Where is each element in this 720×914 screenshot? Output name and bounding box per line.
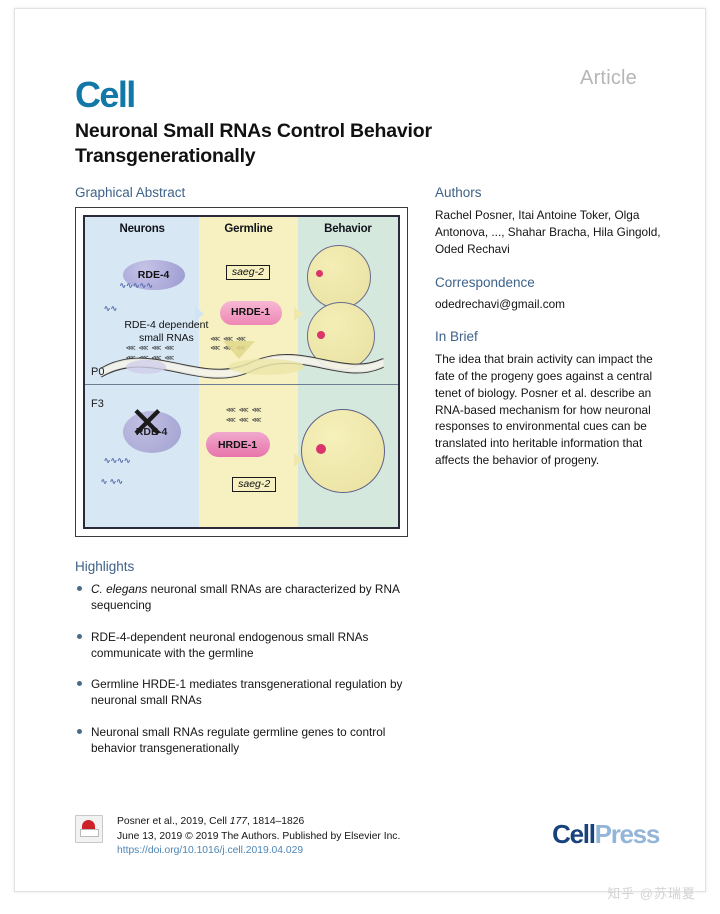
- footer: Posner et al., 2019, Cell 177, 1814–1826…: [75, 815, 475, 859]
- highlight-text: RDE-4-dependent neuronal endogenous smal…: [91, 630, 368, 660]
- crossmark-icon: [75, 815, 103, 843]
- knockout-x-mark: ✕: [129, 409, 166, 440]
- dsrna-fragment-p0: ∿∿: [104, 304, 117, 314]
- correspondence-heading: Correspondence: [435, 275, 663, 290]
- flow-arrow-neurons-to-germline: [195, 307, 204, 321]
- assay-plate-p0-a: [307, 245, 371, 309]
- crossmark-base: [80, 829, 99, 837]
- metadata-column: Authors Rachel Posner, Itai Antoine Toke…: [435, 185, 663, 487]
- in-brief-text: The idea that brain activity can impact …: [435, 351, 663, 468]
- cellpress-logo: CellPress: [552, 821, 659, 847]
- cellpress-logo-light: Press: [595, 819, 659, 849]
- correspondence-block: Correspondence odedrechavi@gmail.com: [435, 275, 663, 311]
- footer-doi-link[interactable]: https://doi.org/10.1016/j.cell.2019.04.0…: [117, 844, 400, 859]
- in-brief-block: In Brief The idea that brain activity ca…: [435, 329, 663, 468]
- list-item: RDE-4-dependent neuronal endogenous smal…: [75, 629, 425, 662]
- footer-publication-line: June 13, 2019 © 2019 The Authors. Publis…: [117, 830, 400, 845]
- highlights-section: Highlights C. elegans neuronal small RNA…: [75, 559, 425, 771]
- assay-plate-f3: [301, 409, 385, 493]
- food-spot: [316, 270, 323, 277]
- panel-title-neurons: Neurons: [85, 223, 199, 235]
- cellpress-logo-dark: Cell: [552, 819, 594, 849]
- page-sheet: Cell Article Neuronal Small RNAs Control…: [15, 9, 705, 891]
- in-brief-heading: In Brief: [435, 329, 663, 344]
- list-item: C. elegans neuronal small RNAs are chara…: [75, 581, 425, 614]
- highlights-heading: Highlights: [75, 559, 425, 574]
- graphical-abstract-section: Graphical Abstract Neurons Germline: [75, 185, 410, 537]
- authors-block: Authors Rachel Posner, Itai Antoine Toke…: [435, 185, 663, 257]
- highlight-italic-lead: C. elegans: [91, 582, 147, 596]
- correspondence-email[interactable]: odedrechavi@gmail.com: [435, 297, 663, 311]
- small-rna-cluster-germline-f3: ⋘ ⋘ ⋘⋘ ⋘ ⋘: [226, 406, 262, 425]
- article-type-label: Article: [580, 67, 637, 90]
- graphical-abstract-canvas: Neurons Germline Behavior RDE-4 ∿∿∿∿∿ ∿∿…: [83, 215, 400, 529]
- list-item: Germline HRDE-1 mediates transgeneration…: [75, 676, 425, 709]
- generation-divider: [85, 384, 398, 385]
- gene-saeg2-f3: saeg-2: [232, 477, 276, 492]
- citation-part-1: Posner et al., 2019, Cell: [117, 816, 230, 827]
- dsrna-fragments-f3: ∿ ∿∿: [101, 477, 123, 487]
- highlights-list: C. elegans neuronal small RNAs are chara…: [75, 581, 425, 756]
- food-spot: [317, 331, 325, 339]
- protein-hrde1-f3: HRDE-1: [206, 432, 270, 457]
- footer-citation: Posner et al., 2019, Cell 177, 1814–1826: [117, 815, 400, 830]
- protein-hrde1-p0: HRDE-1: [220, 301, 282, 325]
- panel-title-germline: Germline: [199, 223, 298, 235]
- gene-saeg2-p0: saeg-2: [226, 265, 270, 280]
- dsrna-strand-p0: ∿∿∿∿∿: [119, 281, 153, 291]
- generation-transfer-arrow: [223, 341, 255, 359]
- authors-heading: Authors: [435, 185, 663, 200]
- panel-title-behavior: Behavior: [298, 223, 398, 235]
- citation-volume: 177: [230, 816, 247, 827]
- page-title: Neuronal Small RNAs Control Behavior Tra…: [75, 119, 545, 169]
- food-spot: [316, 444, 326, 454]
- highlight-text: Germline HRDE-1 mediates transgeneration…: [91, 677, 402, 707]
- document-page: Cell Article Neuronal Small RNAs Control…: [14, 8, 706, 892]
- highlight-text: Neuronal small RNAs regulate germline ge…: [91, 725, 385, 755]
- graphical-abstract-figure: Neurons Germline Behavior RDE-4 ∿∿∿∿∿ ∿∿…: [75, 207, 408, 537]
- graphical-abstract-heading: Graphical Abstract: [75, 185, 410, 200]
- footer-text-block: Posner et al., 2019, Cell 177, 1814–1826…: [117, 815, 400, 859]
- zhihu-watermark: 知乎 @苏瑞夏: [607, 883, 696, 902]
- generation-label-f3: F3: [91, 398, 104, 410]
- generation-label-p0: P0: [91, 366, 104, 378]
- dsrna-strand-f3: ∿∿∿∿: [104, 456, 131, 466]
- cell-journal-logo: Cell: [75, 77, 135, 113]
- citation-part-2: , 1814–1826: [247, 816, 304, 827]
- flow-arrow-germline-to-behavior: [294, 307, 303, 321]
- list-item: Neuronal small RNAs regulate germline ge…: [75, 724, 425, 757]
- authors-list: Rachel Posner, Itai Antoine Toker, Olga …: [435, 207, 663, 257]
